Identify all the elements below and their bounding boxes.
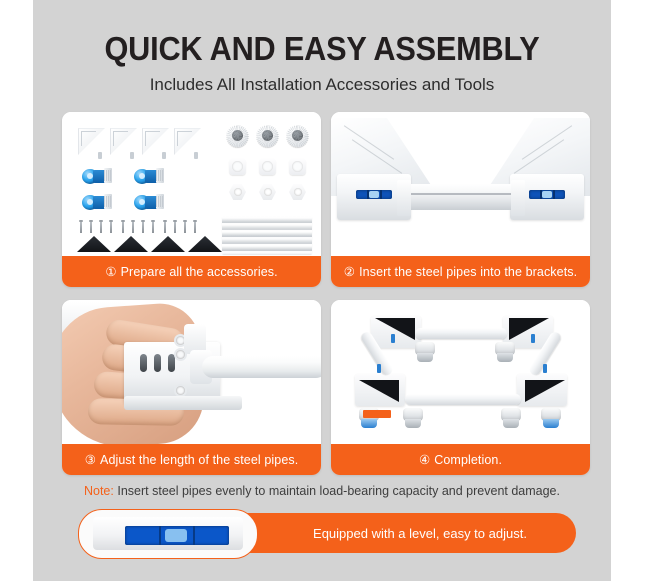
caster-wheel-icon [82, 168, 112, 185]
steps-grid: ① Prepare all the accessories. [62, 112, 582, 475]
frame-foot [501, 408, 521, 430]
square-nut-icon [289, 158, 306, 175]
step-4-label: Completion. [434, 453, 502, 467]
adjustable-foot-icon [287, 126, 308, 147]
steel-pipe [405, 184, 516, 210]
screw-icon [131, 220, 135, 233]
brand-label [363, 410, 391, 418]
rubber-pad-icon [151, 236, 185, 252]
frame-bar-front [405, 394, 521, 405]
corner-bracket-icon [174, 128, 201, 155]
banner-text: Equipped with a level, easy to adjust. [270, 513, 570, 553]
step-2-caption: ② Insert the steel pipes into the bracke… [331, 256, 590, 287]
bracket-foot-icon [130, 152, 134, 159]
step-1-image [62, 112, 321, 256]
screw-icon [151, 220, 155, 233]
note-row: Note: Insert steel pipes evenly to maint… [33, 484, 611, 498]
assembled-base-frame [353, 312, 571, 434]
side-level-indicator [391, 334, 395, 343]
side-level-indicator [531, 334, 535, 343]
frame-foot [403, 408, 423, 430]
bracket-foot-icon [162, 152, 166, 159]
hex-nut-icon [289, 184, 306, 200]
square-nut-icon [229, 158, 246, 175]
corner-bracket-icon [78, 128, 105, 155]
bracket-hole [176, 386, 185, 395]
screw-icon [163, 220, 167, 233]
caster-wheel-icon [134, 194, 164, 211]
step-3-number: ③ [85, 452, 96, 467]
bracket-slot [168, 354, 175, 372]
adjustable-foot-icon [257, 126, 278, 147]
caster-wheel-icon [134, 168, 164, 185]
step-card-2: ② Insert the steel pipes into the bracke… [331, 112, 590, 287]
step-4-caption: ④ Completion. [331, 444, 590, 475]
note-label: Note: [84, 484, 114, 498]
step-3-caption: ③ Adjust the length of the steel pipes. [62, 444, 321, 475]
infographic-canvas: QUICK AND EASY ASSEMBLY Includes All Ins… [33, 0, 611, 581]
step-3-image [62, 300, 321, 444]
bracket-foot-icon [98, 152, 102, 159]
hex-nut-icon [259, 184, 276, 200]
rubber-pad-icon [77, 236, 111, 252]
hex-nut-icon [229, 184, 246, 200]
step-card-3: ③ Adjust the length of the steel pipes. [62, 300, 321, 475]
step-1-caption: ① Prepare all the accessories. [62, 256, 321, 287]
right-pipe-collar [511, 180, 525, 216]
caster-wheel-icon [82, 194, 112, 211]
frame-foot [415, 342, 435, 364]
screw-icon [89, 220, 93, 233]
screw-icon [99, 220, 103, 233]
bracket-slot [154, 354, 161, 372]
bracket-foot-icon [194, 152, 198, 159]
screw-icon [193, 220, 197, 233]
step-card-4: ④ Completion. [331, 300, 590, 475]
screw-icon [183, 220, 187, 233]
screw-icon [173, 220, 177, 233]
step-4-number: ④ [419, 452, 430, 467]
bubble-level-icon [125, 526, 229, 545]
rubber-pad-icon [188, 236, 222, 252]
frame-foot [541, 408, 561, 430]
side-level-indicator [377, 364, 381, 373]
level-feature-banner: Equipped with a level, easy to adjust. [80, 513, 576, 553]
left-pipe-collar [397, 180, 411, 216]
screw-icon [121, 220, 125, 233]
step-2-image [331, 112, 590, 256]
rubber-pad-icon [114, 236, 148, 252]
step-2-label: Insert the steel pipes into the brackets… [359, 265, 577, 279]
infographic-page: QUICK AND EASY ASSEMBLY Includes All Ins… [0, 0, 650, 581]
page-subtitle: Includes All Installation Accessories an… [33, 74, 611, 96]
note-text: Insert steel pipes evenly to maintain lo… [117, 484, 560, 498]
corner-bracket-icon [110, 128, 137, 155]
screw-icon [109, 220, 113, 233]
side-level-indicator [543, 364, 547, 373]
page-title: QUICK AND EASY ASSEMBLY [53, 30, 591, 68]
step-3-label: Adjust the length of the steel pipes. [100, 453, 298, 467]
level-tool-body [93, 517, 243, 550]
bracket-slot [140, 354, 147, 372]
step-4-image [331, 300, 590, 444]
screw-icon [79, 220, 83, 233]
frame-foot [495, 342, 515, 364]
frame-bar-back [415, 328, 507, 339]
square-nut-icon [259, 158, 276, 175]
level-photo-chip [78, 509, 258, 559]
step-1-number: ① [105, 264, 116, 279]
step-card-1: ① Prepare all the accessories. [62, 112, 321, 287]
steel-pipe [202, 356, 321, 378]
adjustable-foot-icon [227, 126, 248, 147]
steel-pipes-icon [222, 216, 312, 254]
corner-bracket-icon [142, 128, 169, 155]
bracket-base [124, 396, 242, 410]
bubble-level-icon [356, 190, 392, 199]
screw-icon [141, 220, 145, 233]
bubble-level-icon [529, 190, 565, 199]
step-2-number: ② [344, 264, 355, 279]
step-1-label: Prepare all the accessories. [121, 265, 278, 279]
